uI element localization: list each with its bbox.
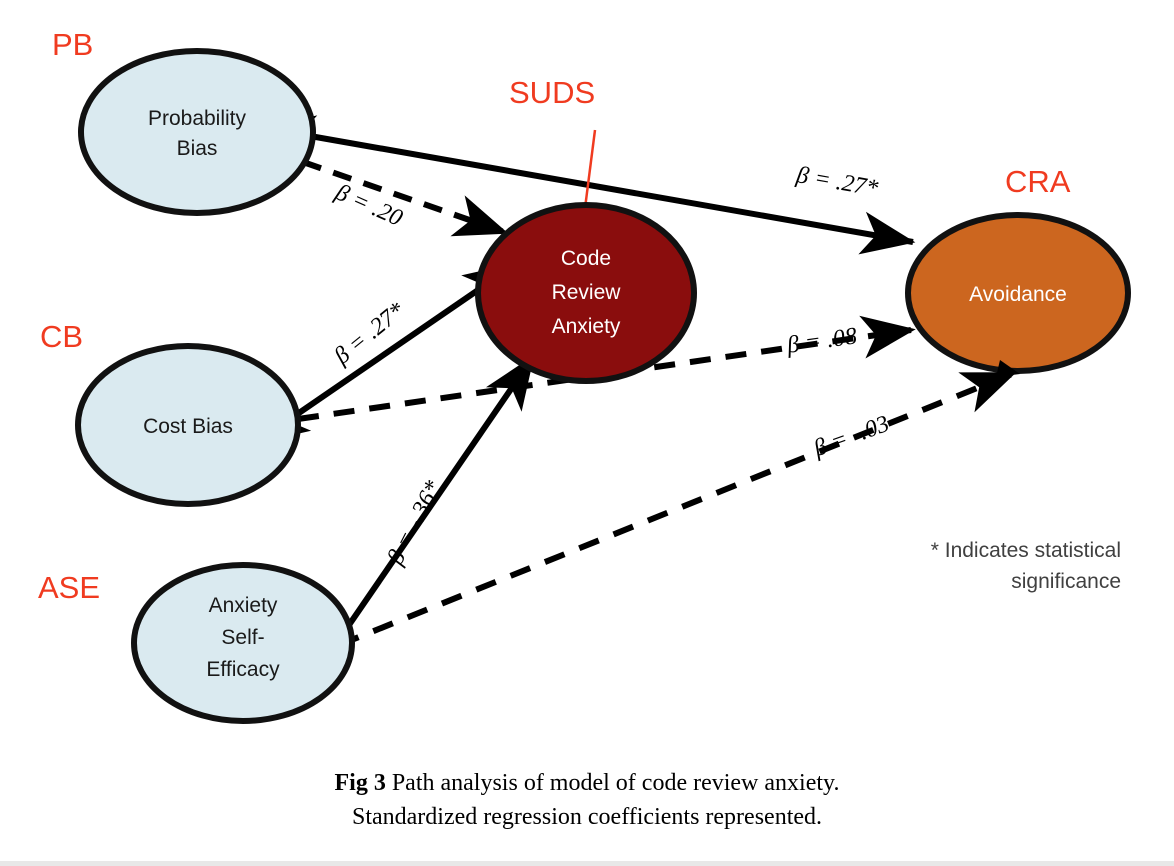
coef-label-ase-to-cra: β = -.03 <box>810 411 893 462</box>
figure-caption: Fig 3 Path analysis of model of code rev… <box>0 766 1174 834</box>
node-avoidance[interactable]: Avoidance <box>908 215 1128 371</box>
abbrev-label-cra: CRA <box>1005 164 1071 199</box>
caption-line-2: Standardized regression coefficients rep… <box>0 800 1174 834</box>
node-label-ase-line1: Anxiety <box>209 594 278 617</box>
abbrev-label-pb: PB <box>52 27 93 62</box>
abbrev-label-cb: CB <box>40 319 83 354</box>
node-label-suds-line2: Review <box>552 281 622 304</box>
significance-note-line1: * Indicates statistical <box>931 539 1121 562</box>
bottom-divider <box>0 861 1174 866</box>
node-code-review-anxiety[interactable]: Code Review Anxiety <box>478 205 694 381</box>
node-label-avoidance: Avoidance <box>969 283 1067 306</box>
node-probability-bias[interactable]: Probability Bias <box>81 51 313 213</box>
figure-canvas: Probability Bias Cost Bias Anxiety Self-… <box>0 0 1174 866</box>
node-cost-bias[interactable]: Cost Bias <box>78 346 298 504</box>
node-shape-probability-bias[interactable] <box>81 51 313 213</box>
node-label-probability-bias-line2: Bias <box>177 137 218 160</box>
caption-text-1: Path analysis of model of code review an… <box>386 770 840 796</box>
node-label-ase-line3: Efficacy <box>206 658 280 681</box>
node-label-ase-line2: Self- <box>221 626 264 649</box>
significance-note-line2: significance <box>1011 570 1121 593</box>
coef-label-cb-to-suds: β = .27* <box>329 298 410 371</box>
coef-label-ase-to-suds: β = -.36* <box>382 477 447 570</box>
path-pb-to-suds <box>303 162 504 232</box>
coef-label-cb-to-cra: β = .08 <box>784 323 858 359</box>
abbrev-label-ase: ASE <box>38 570 100 605</box>
coef-label-pb-to-cra: β = .27* <box>794 162 880 202</box>
node-label-suds-line3: Anxiety <box>552 315 621 338</box>
node-label-cost-bias: Cost Bias <box>143 415 233 438</box>
path-ase-to-cra <box>339 374 1012 645</box>
node-anxiety-self-efficacy[interactable]: Anxiety Self- Efficacy <box>134 565 352 721</box>
node-label-suds-line1: Code <box>561 247 611 270</box>
caption-figure-number: Fig 3 <box>335 770 386 796</box>
caption-line-1: Fig 3 Path analysis of model of code rev… <box>0 766 1174 800</box>
node-label-probability-bias-line1: Probability <box>148 107 247 130</box>
path-diagram: Probability Bias Cost Bias Anxiety Self-… <box>0 0 1174 866</box>
abbrev-label-suds: SUDS <box>509 75 595 110</box>
